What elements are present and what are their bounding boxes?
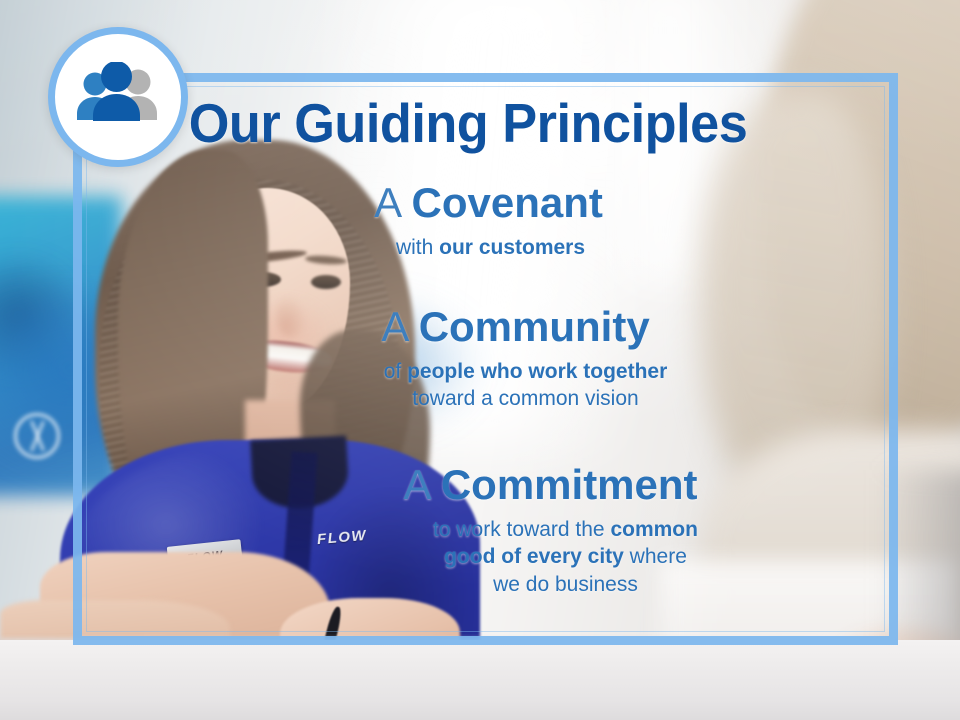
subtext-line: toward a common vision [153,385,898,413]
principle-covenant-heading: A Covenant [73,181,898,226]
principle-covenant: A Covenant with our customers [73,181,898,261]
desk-surface [0,640,960,720]
principle-commitment-subtext: to work toward the common good of every … [73,516,898,599]
principle-commitment: A Commitment to work toward the common g… [73,463,898,599]
subtext-plain: to work toward the [433,518,610,541]
subtext-plain: where [630,545,687,568]
subtext-line: of people who work together [153,358,898,386]
subtext-bold: our customers [439,236,585,259]
subtext-line: to work toward the common [233,516,898,544]
subtext-line: with our customers [396,236,585,259]
subtext-line: we do business [233,571,898,599]
subtext-plain: with [396,236,439,259]
principle-covenant-subtext: with our customers [73,234,898,262]
subtext-plain: of [384,360,407,383]
principle-commitment-heading: A Commitment [73,463,898,508]
page-title: Our Guiding Principles [93,95,844,153]
principle-community-article: A [381,303,407,350]
subtext-line: good of every city where [233,543,898,571]
brand-emblem-icon [14,413,60,459]
guiding-principles-graphic: FLOW FLOW Our Guiding Principles [0,0,960,720]
principles-content: Our Guiding Principles A Covenant with o… [73,73,898,645]
subtext-bold: people who work together [407,360,667,383]
principle-community-keyword: Community [419,303,650,350]
principle-commitment-article: A [403,461,429,508]
principle-community-subtext: of people who work together toward a com… [73,358,898,413]
principle-covenant-article: A [374,179,400,226]
principle-commitment-keyword: Commitment [441,461,698,508]
subtext-bold-partial: good of every city [444,545,624,568]
principle-community-heading: A Community [73,305,898,350]
principle-covenant-keyword: Covenant [412,179,603,226]
principle-community: A Community of people who work together … [73,305,898,413]
subtext-bold-partial: common [610,518,698,541]
